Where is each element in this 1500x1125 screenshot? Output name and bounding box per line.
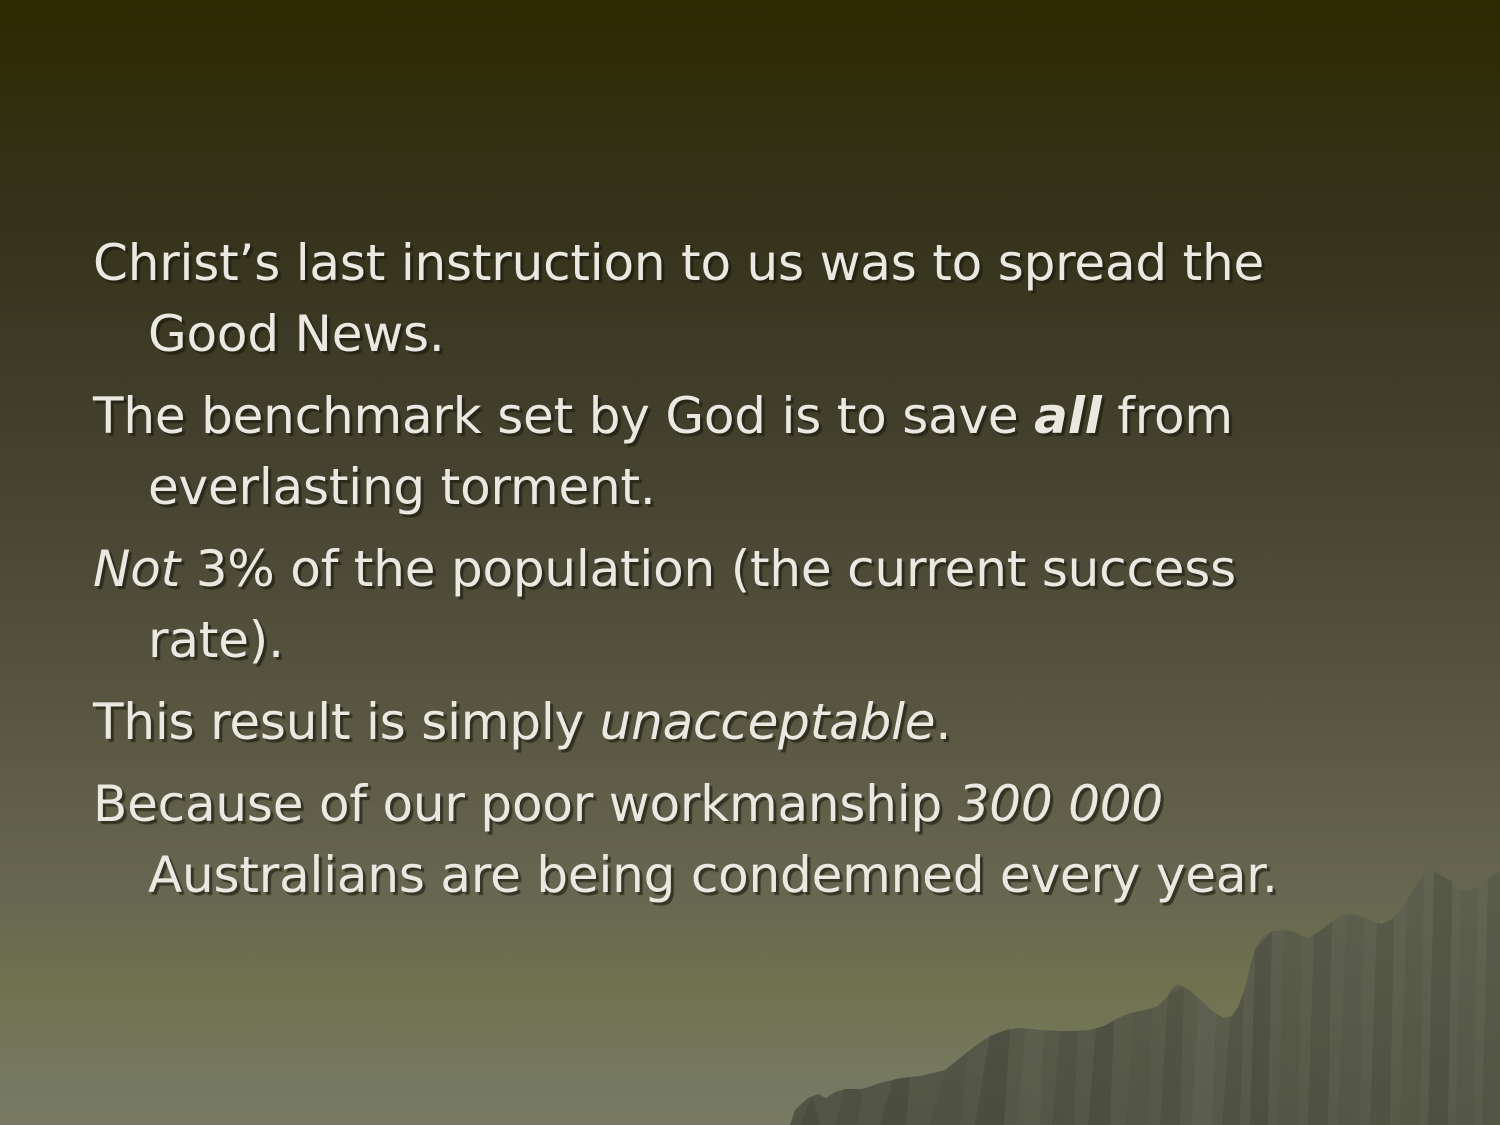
text-run: Australians are being condemned every ye… xyxy=(148,846,1278,904)
emphasis-three-hundred-thousand: 300 000 xyxy=(958,775,1163,833)
text-run: Because of our poor workmanship xyxy=(93,775,958,833)
emphasis-all: all xyxy=(1034,387,1101,445)
bullet-paragraph-4: This result is simply unacceptable. xyxy=(93,687,1348,758)
text-run: . xyxy=(935,693,951,751)
bullet-paragraph-1: Christ’s last instruction to us was to s… xyxy=(93,228,1348,370)
text-run: The benchmark set by God is to save xyxy=(93,387,1034,445)
text-run: Christ’s last instruction to us was to s… xyxy=(93,234,1264,363)
emphasis-not: Not xyxy=(93,540,180,598)
text-run: This result is simply xyxy=(93,693,600,751)
emphasis-unacceptable: unacceptable xyxy=(600,693,936,751)
bullet-paragraph-3: Not 3% of the population (the current su… xyxy=(93,534,1348,676)
bullet-paragraph-5: Because of our poor workmanship 300 000 … xyxy=(93,769,1348,911)
presentation-slide: Christ’s last instruction to us was to s… xyxy=(0,0,1500,1125)
text-run: 3% of the population (the current succes… xyxy=(148,540,1236,669)
slide-body-text: Christ’s last instruction to us was to s… xyxy=(93,228,1348,911)
bullet-paragraph-2: The benchmark set by God is to save all … xyxy=(93,381,1348,523)
